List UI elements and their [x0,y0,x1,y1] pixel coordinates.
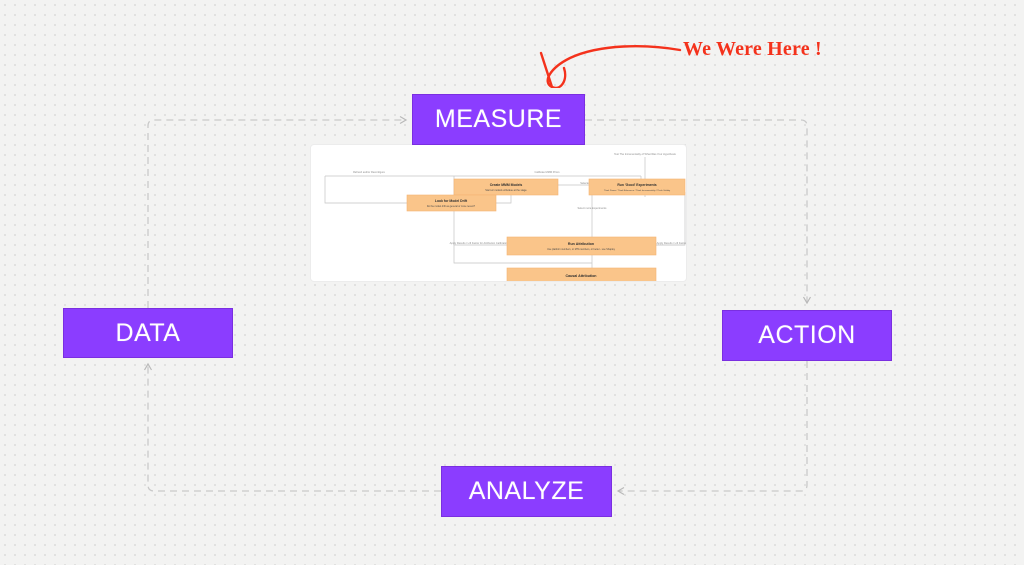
stage-data-label: DATA [116,321,181,346]
flow-node-title: Run 'Good' Experiments [617,183,656,187]
flow-node-subtitle: Think Power / Think Relevance / Think In… [604,189,671,192]
measurement-flow-card[interactable]: Refresh and/or Reconfigure Calibrate MMM… [310,144,687,282]
diagram-canvas: Refresh and/or Reconfigure Calibrate MMM… [0,0,1024,565]
flow-node-create-mmm-models[interactable]: Create MMM Models Start w/ models w/ltva… [454,179,558,195]
stage-action-label: ACTION [758,323,855,348]
flow-node-title: Look for Model Drift [435,199,468,203]
flow-edge-label: Select more Experiments [578,206,608,210]
flow-node-title: Run Attribution [568,242,594,246]
flow-node-look-for-model-drift[interactable]: Look for Model Drift Do the model drift … [407,195,496,211]
measurement-flow-diagram: Refresh and/or Reconfigure Calibrate MMM… [311,145,687,282]
stage-action[interactable]: ACTION [722,310,892,361]
flow-edge-label: Apply Results / Lift Factor for Attribut… [450,241,509,245]
stage-measure[interactable]: MEASURE [412,94,585,145]
flow-node-title: Create MMM Models [490,183,523,187]
stage-measure-label: MEASURE [435,107,562,132]
flow-edge-label: Refresh and/or Reconfigure [353,170,385,174]
flow-edge-label: Apply Results / Lift Factor for Attribut… [657,241,687,245]
stage-data[interactable]: DATA [63,308,233,358]
flow-node-run-attribution[interactable]: Run Attribution Use platform numbers, or… [507,237,656,255]
flow-edge-label: Calibrate MMM Priors [534,170,560,174]
connector-analyze-to-data [148,364,441,491]
flow-node-title: Causal Attribution [565,274,596,278]
flow-node-subtitle: Start w/ models w/ltvalue at the stage [485,189,527,192]
flow-node-causal-attribution[interactable]: Causal Attribution [507,268,656,282]
annotation-label: We Were Here ! [683,38,822,61]
flow-edge-label: Test The Incrementality of What Was Your… [614,152,676,156]
connector-action-to-analyze [618,361,807,491]
flow-node-run-good-experiments[interactable]: Run 'Good' Experiments Think Power / Thi… [589,179,685,195]
stage-analyze[interactable]: ANALYZE [441,466,612,517]
stage-analyze-label: ANALYZE [469,479,585,504]
flow-node-subtitle: Do the model drift as general or more re… [427,205,476,208]
flow-node-subtitle: Use platform numbers, or MTA numbers, or… [547,248,616,251]
